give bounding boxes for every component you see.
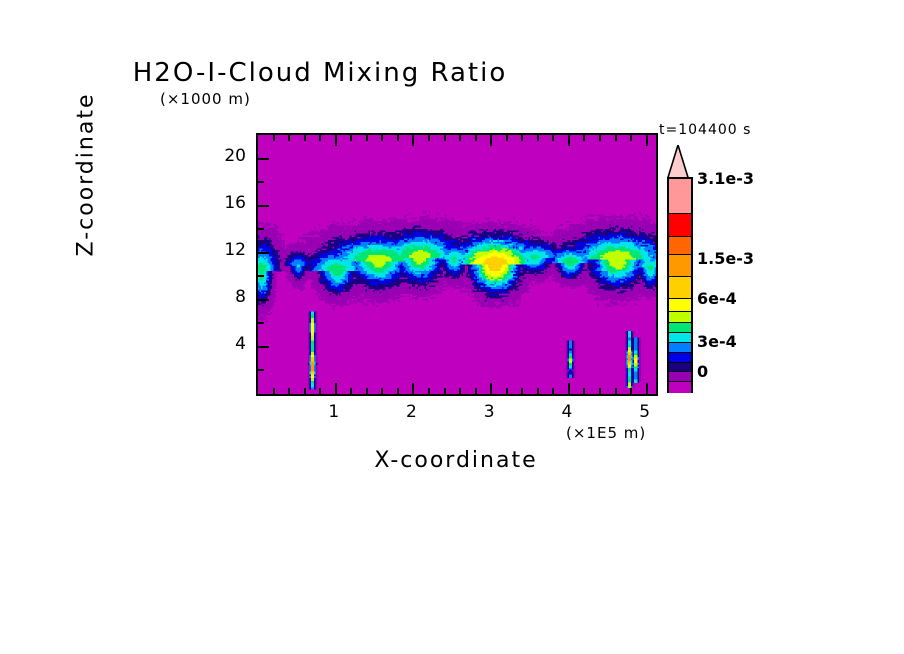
xaxis-minor-tick-mark	[475, 388, 477, 394]
xaxis-minor-tick-mark	[444, 388, 446, 394]
xaxis-minor-tick-mark	[397, 135, 399, 141]
xaxis-minor-tick-mark	[288, 135, 290, 141]
colorbar-tick-label: 3.1e-3	[697, 169, 754, 188]
colorbar-tick-label: 0	[697, 362, 708, 381]
colorbar	[667, 177, 693, 393]
yaxis-minor-tick-mark	[258, 181, 264, 183]
yaxis-tick-mark	[258, 205, 269, 207]
xaxis-minor-tick-mark	[381, 135, 383, 141]
xaxis-minor-tick-mark	[288, 388, 290, 394]
xaxis-minor-tick-mark	[319, 135, 321, 141]
xaxis-tick-label: 4	[547, 402, 587, 422]
xaxis-tick-label: 1	[314, 402, 354, 422]
xaxis-minor-tick-mark	[319, 388, 321, 394]
contour-plot	[258, 135, 656, 394]
xaxis-tick-label: 3	[469, 402, 509, 422]
xaxis-minor-tick-mark	[521, 388, 523, 394]
yaxis-tick-label: 16	[208, 193, 246, 213]
xaxis-tick-mark	[490, 135, 492, 146]
yaxis-unit-label: (×1000 m)	[160, 90, 251, 108]
xaxis-minor-tick-mark	[381, 388, 383, 394]
xaxis-minor-tick-mark	[350, 388, 352, 394]
xaxis-minor-tick-mark	[583, 135, 585, 141]
xaxis-tick-mark	[568, 383, 570, 394]
xaxis-minor-tick-mark	[428, 135, 430, 141]
xaxis-minor-tick-mark	[428, 388, 430, 394]
xaxis-minor-tick-mark	[506, 135, 508, 141]
colorbar-segment	[669, 381, 691, 392]
xaxis-minor-tick-mark	[599, 135, 601, 141]
xaxis-minor-tick-mark	[521, 135, 523, 141]
xaxis-tick-mark	[335, 383, 337, 394]
yaxis-minor-tick-mark	[258, 228, 264, 230]
colorbar-segment	[669, 254, 691, 278]
xaxis-minor-tick-mark	[350, 135, 352, 141]
xaxis-minor-tick-mark	[273, 388, 275, 394]
colorbar-segment	[669, 236, 691, 256]
yaxis-tick-label: 8	[208, 287, 246, 307]
xaxis-minor-tick-mark	[397, 388, 399, 394]
colorbar-tick-label: 1.5e-3	[697, 249, 754, 268]
xaxis-minor-tick-mark	[552, 135, 554, 141]
colorbar-extend-arrow	[667, 145, 689, 179]
xaxis-minor-tick-mark	[615, 135, 617, 141]
figure-canvas: H2O-I-Cloud Mixing Ratio (×1000 m) t=104…	[0, 0, 904, 654]
xaxis-tick-mark	[335, 135, 337, 146]
xaxis-tick-mark	[490, 383, 492, 394]
xaxis-minor-tick-mark	[273, 135, 275, 141]
yaxis-tick-label: 12	[208, 240, 246, 260]
xaxis-minor-tick-mark	[615, 388, 617, 394]
xaxis-tick-mark	[568, 135, 570, 146]
colorbar-segment	[669, 213, 691, 238]
yaxis-minor-tick-mark	[258, 369, 264, 371]
xaxis-tick-mark	[646, 383, 648, 394]
xaxis-minor-tick-mark	[304, 388, 306, 394]
yaxis-tick-mark	[258, 252, 269, 254]
xaxis-minor-tick-mark	[630, 388, 632, 394]
xaxis-tick-mark	[412, 383, 414, 394]
colorbar-segment	[669, 276, 691, 300]
xaxis-minor-tick-mark	[537, 388, 539, 394]
yaxis-minor-tick-mark	[258, 322, 264, 324]
xaxis-tick-label: 5	[625, 402, 665, 422]
yaxis-tick-mark	[258, 299, 269, 301]
xaxis-title: X-coordinate	[256, 448, 656, 473]
colorbar-segment	[669, 179, 691, 213]
xaxis-minor-tick-mark	[304, 135, 306, 141]
xaxis-minor-tick-mark	[459, 388, 461, 394]
xaxis-minor-tick-mark	[552, 388, 554, 394]
xaxis-minor-tick-mark	[366, 388, 368, 394]
yaxis-tick-label: 20	[208, 146, 246, 166]
xaxis-minor-tick-mark	[366, 135, 368, 141]
xaxis-unit-label: (×1E5 m)	[566, 424, 646, 442]
xaxis-minor-tick-mark	[583, 388, 585, 394]
xaxis-minor-tick-mark	[506, 388, 508, 394]
xaxis-minor-tick-mark	[444, 135, 446, 141]
time-label: t=104400 s	[659, 122, 751, 138]
yaxis-tick-label: 4	[208, 334, 246, 354]
colorbar-tick-label: 6e-4	[697, 289, 737, 308]
yaxis-tick-mark	[258, 346, 269, 348]
colorbar-tick-label: 3e-4	[697, 332, 737, 351]
xaxis-minor-tick-mark	[599, 388, 601, 394]
yaxis-minor-tick-mark	[258, 275, 264, 277]
xaxis-minor-tick-mark	[475, 135, 477, 141]
xaxis-minor-tick-mark	[630, 135, 632, 141]
xaxis-tick-mark	[412, 135, 414, 146]
xaxis-tick-label: 2	[391, 402, 431, 422]
yaxis-title: Z-coordinate	[74, 25, 99, 325]
colorbar-arrow-shape	[668, 145, 689, 179]
xaxis-minor-tick-mark	[537, 135, 539, 141]
yaxis-tick-mark	[258, 158, 269, 160]
xaxis-tick-mark	[646, 135, 648, 146]
xaxis-minor-tick-mark	[459, 135, 461, 141]
plot-area	[256, 133, 658, 396]
